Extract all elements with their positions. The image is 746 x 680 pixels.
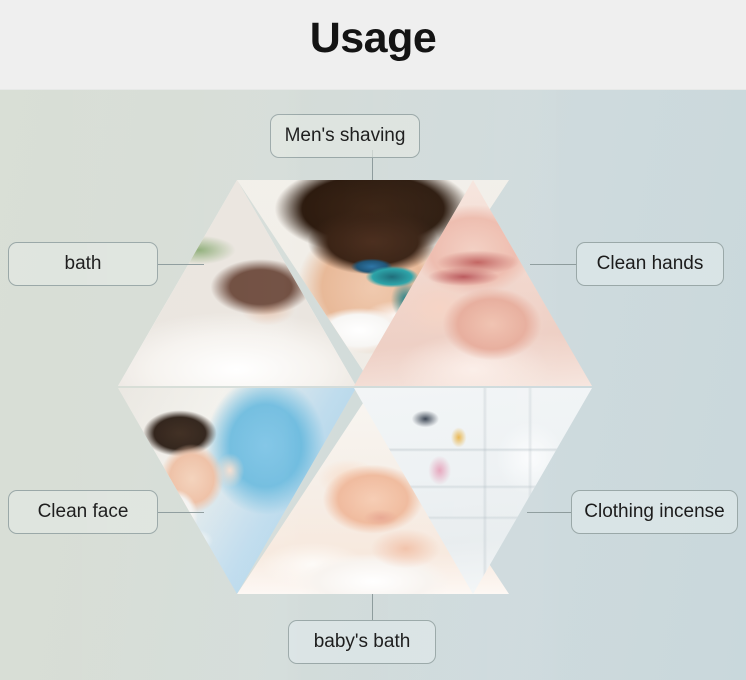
leader-line-clean-hands — [530, 264, 576, 265]
hexagon-collage — [118, 180, 592, 594]
label-babys-bath[interactable]: baby's bath — [288, 620, 436, 664]
label-clean-face-text: Clean face — [38, 501, 129, 523]
leader-line-clothing-incense — [527, 512, 571, 513]
label-clean-hands-text: Clean hands — [597, 253, 704, 275]
diagram-canvas: Men's shaving bath Clean hands Clean fac… — [0, 90, 746, 680]
label-bath-text: bath — [65, 253, 102, 275]
leader-line-bath — [158, 264, 204, 265]
label-bath[interactable]: bath — [8, 242, 158, 286]
page-title: Usage — [0, 14, 746, 63]
label-clothing-incense[interactable]: Clothing incense — [571, 490, 738, 534]
label-mens-shaving[interactable]: Men's shaving — [270, 114, 420, 158]
usage-infographic: Usage Men's shaving bath — [0, 0, 746, 680]
header-band: Usage — [0, 0, 746, 90]
label-clean-hands[interactable]: Clean hands — [576, 242, 724, 286]
leader-line-babys-bath — [372, 594, 373, 620]
label-clean-face[interactable]: Clean face — [8, 490, 158, 534]
label-babys-bath-text: baby's bath — [314, 631, 411, 653]
label-mens-shaving-text: Men's shaving — [285, 125, 406, 147]
leader-line-clean-face — [158, 512, 204, 513]
label-clothing-incense-text: Clothing incense — [584, 501, 724, 523]
